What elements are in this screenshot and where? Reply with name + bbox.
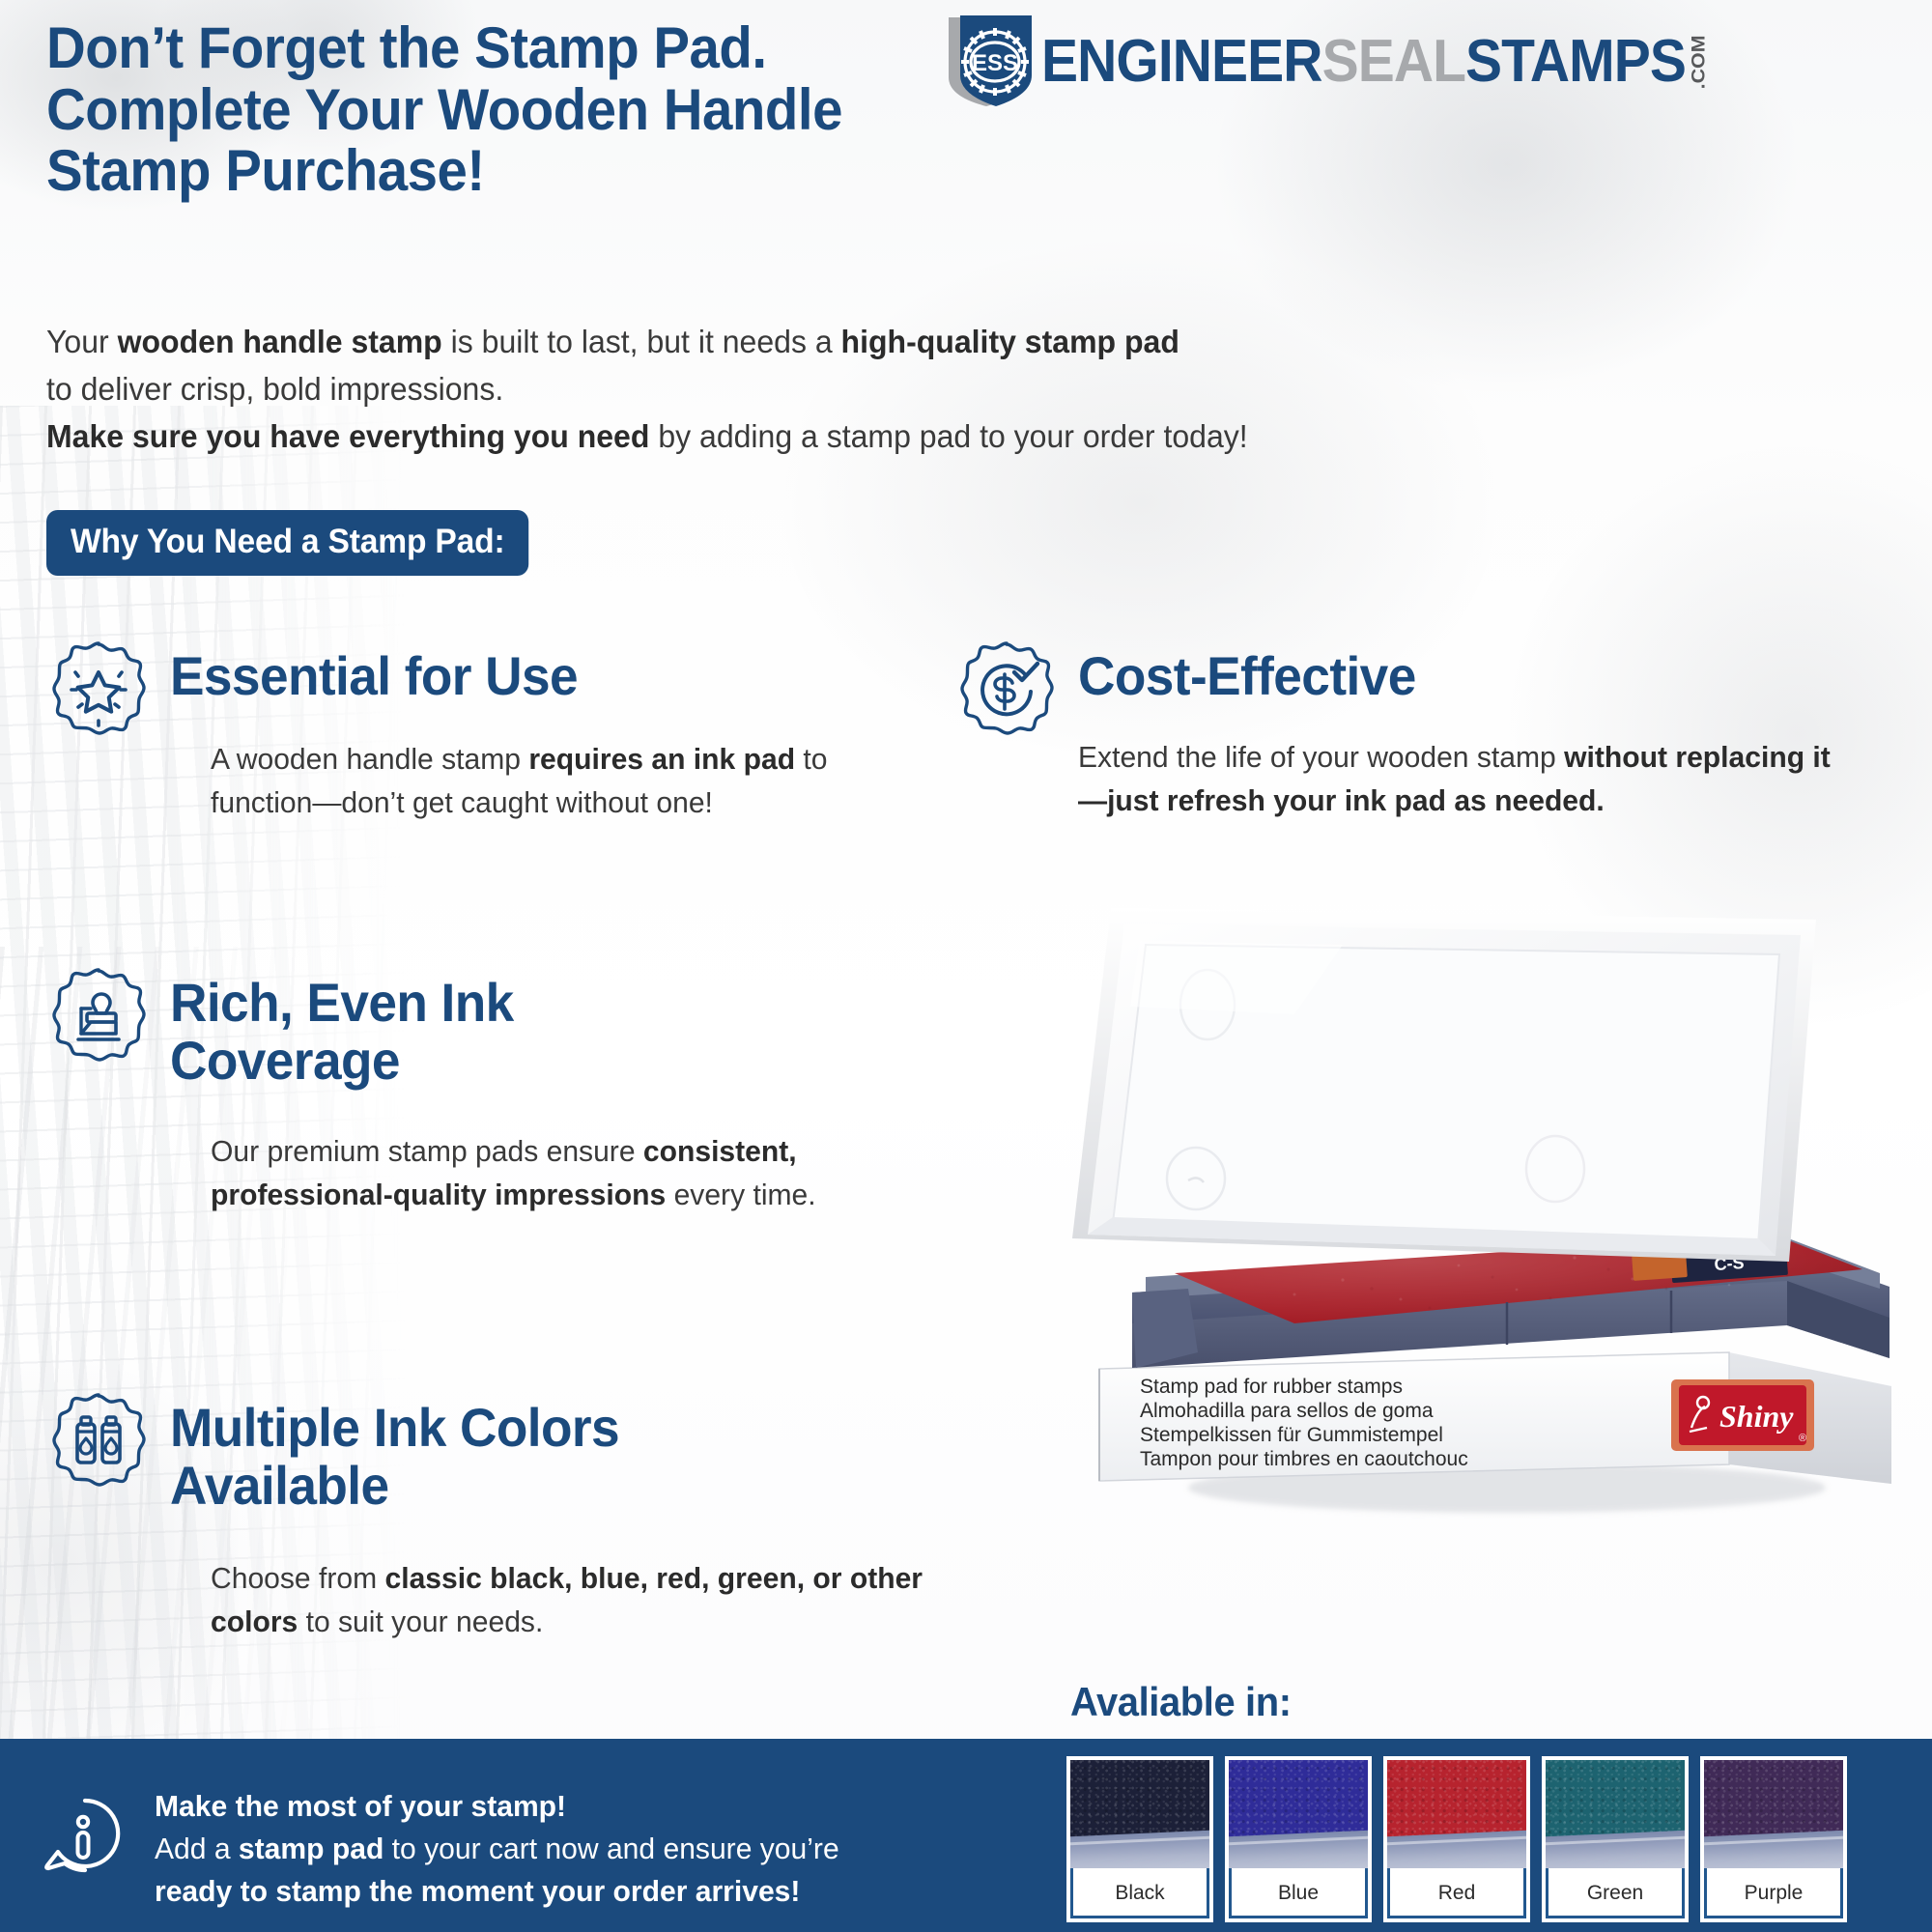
headline-line-1: Don’t Forget the Stamp Pad. <box>46 17 954 79</box>
swatch-image <box>1070 1760 1209 1868</box>
box-line-4: Tampon pour timbres en caoutchouc <box>1140 1448 1468 1470</box>
headline-line-3: Stamp Purchase! <box>46 140 954 202</box>
swatch-label: Black <box>1070 1868 1209 1918</box>
swatch-image <box>1546 1760 1685 1868</box>
shiny-logo: Shiny ® <box>1671 1379 1814 1451</box>
headline-line-2: Complete Your Wooden Handle <box>46 79 954 141</box>
feature-title: Multiple Ink Colors Available <box>170 1399 757 1515</box>
logo-wordmark: ENGINEER SEAL STAMPS .COM <box>1041 32 1708 92</box>
ink-bottles-badge-icon <box>46 1391 151 1495</box>
box-line-3: Stempelkissen für Gummistempel <box>1140 1424 1443 1446</box>
feature-body: Our premium stamp pads ensure consistent… <box>211 1130 867 1217</box>
feature-title: Essential for Use <box>170 647 867 705</box>
intro-line-3: Make sure you have everything you need b… <box>46 413 1377 461</box>
swatch-green[interactable]: Green <box>1542 1756 1689 1922</box>
feature-body-a: Our premium stamp pads ensure <box>211 1134 643 1168</box>
swatch-image <box>1704 1760 1843 1868</box>
color-swatch-list: Black Blue Red <box>1066 1756 1847 1922</box>
feature-body: Extend the life of your wooden stamp wit… <box>1078 736 1837 823</box>
svg-text:ESS: ESS <box>972 50 1018 76</box>
star-badge-icon <box>46 639 151 744</box>
svg-text:Shiny: Shiny <box>1719 1399 1794 1434</box>
feature-body-b: requires an ink pad <box>528 742 795 776</box>
swatch-image <box>1229 1760 1368 1868</box>
intro-line-1: Your wooden handle stamp is built to las… <box>46 319 1377 366</box>
logo-word-engineer: ENGINEER <box>1041 32 1322 92</box>
intro-text-b: is built to last, but it needs a <box>442 324 841 359</box>
feature-body: A wooden handle stamp requires an ink pa… <box>211 738 885 825</box>
brand-logo[interactable]: ESS ENGINEER SEAL STAMPS .COM <box>935 14 1918 110</box>
swatch-black[interactable]: Black <box>1066 1756 1213 1922</box>
intro-bold-b: high-quality stamp pad <box>841 324 1179 359</box>
swatch-label: Blue <box>1229 1868 1368 1918</box>
dollar-check-badge-icon <box>954 639 1059 744</box>
swatch-label: Purple <box>1704 1868 1843 1918</box>
footer-line-1: Make the most of your stamp! <box>155 1785 980 1828</box>
feature-title: Rich, Even Ink Coverage <box>170 974 666 1090</box>
feature-body-c: every time. <box>666 1178 815 1211</box>
intro-line-2: to deliver crisp, bold impressions. <box>46 366 1377 413</box>
feature-body-a: A wooden handle stamp <box>211 742 528 776</box>
logo-word-seal: SEAL <box>1322 32 1465 92</box>
product-photo-stamp-pad: Stamp pad for rubber stamps Almohadilla … <box>1053 898 1922 1526</box>
box-line-1: Stamp pad for rubber stamps <box>1140 1376 1403 1398</box>
box-line-2: Almohadilla para sellos de goma <box>1140 1400 1434 1422</box>
logo-word-stamps: STAMPS <box>1465 32 1686 92</box>
swatch-image <box>1387 1760 1526 1868</box>
footer-text-b: to your cart now and ensure you’re <box>384 1832 838 1865</box>
rubber-stamp-badge-icon <box>46 966 151 1070</box>
swatch-case-rim <box>1546 1830 1685 1868</box>
info-bubble-icon <box>41 1795 126 1880</box>
feature-body-a: Choose from <box>211 1561 384 1595</box>
stamp-pad-lid <box>1072 908 1816 1262</box>
intro-bold-c: Make sure you have everything you need <box>46 418 649 454</box>
intro-paragraph: Your wooden handle stamp is built to las… <box>46 319 1377 460</box>
footer-text-a: Add a <box>155 1832 239 1865</box>
logo-word-tld: .COM <box>1690 35 1708 89</box>
footer-line-3: ready to stamp the moment your order arr… <box>155 1870 980 1913</box>
section-banner: Why You Need a Stamp Pad: <box>46 510 528 576</box>
swatch-blue[interactable]: Blue <box>1225 1756 1372 1922</box>
ess-badge-icon: ESS <box>935 14 1036 110</box>
swatch-case-rim <box>1704 1830 1843 1868</box>
intro-bold-a: wooden handle stamp <box>118 324 442 359</box>
swatch-case-rim <box>1387 1830 1526 1868</box>
feature-body: Choose from classic black, blue, red, gr… <box>211 1557 951 1644</box>
swatch-case-rim <box>1070 1830 1209 1868</box>
product-box: Stamp pad for rubber stamps Almohadilla … <box>1099 1352 1891 1484</box>
swatch-label: Red <box>1387 1868 1526 1918</box>
feature-body-a: Extend the life of your wooden stamp <box>1078 740 1564 774</box>
swatch-case-rim <box>1229 1830 1368 1868</box>
swatch-purple[interactable]: Purple <box>1700 1756 1847 1922</box>
footer-cta-text: Make the most of your stamp! Add a stamp… <box>155 1785 980 1913</box>
page-title: Don’t Forget the Stamp Pad. Complete You… <box>46 17 954 202</box>
feature-body-c: to suit your needs. <box>298 1605 543 1638</box>
footer-line-2: Add a stamp pad to your cart now and ens… <box>155 1828 980 1870</box>
available-in-label: Avaliable in: <box>1070 1679 1292 1725</box>
feature-title: Cost-Effective <box>1078 647 1812 705</box>
section-banner-label: Why You Need a Stamp Pad: <box>71 523 505 560</box>
swatch-label: Green <box>1546 1868 1685 1918</box>
intro-text-a: Your <box>46 324 118 359</box>
infographic-page: Don’t Forget the Stamp Pad. Complete You… <box>0 0 1932 1932</box>
footer-text-bold: stamp pad <box>239 1832 384 1865</box>
svg-text:®: ® <box>1799 1433 1806 1444</box>
swatch-red[interactable]: Red <box>1383 1756 1530 1922</box>
intro-text-c: by adding a stamp pad to your order toda… <box>649 418 1247 454</box>
